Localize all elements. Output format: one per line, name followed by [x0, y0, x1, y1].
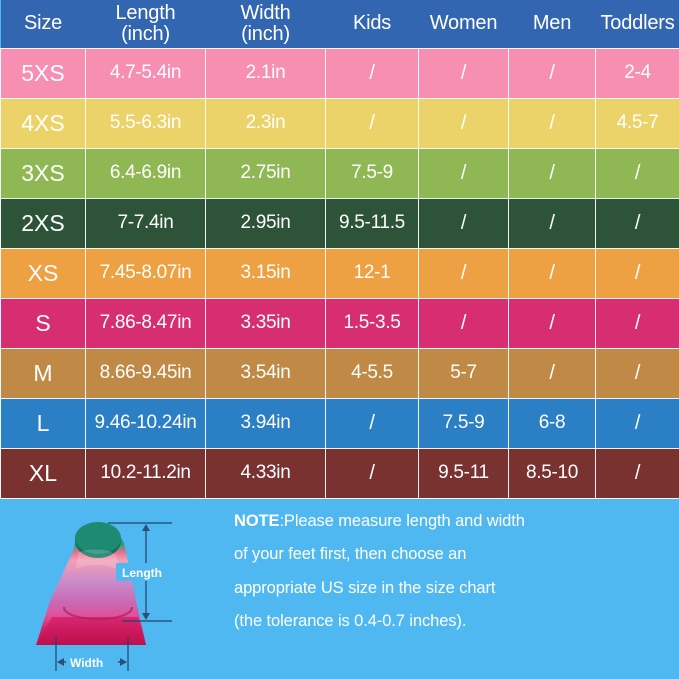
cell-women: / — [419, 148, 509, 198]
cell-width: 3.54in — [206, 348, 326, 398]
column-header-label: Size — [24, 12, 62, 34]
cell-toddlers: / — [596, 448, 679, 498]
cell-toddlers: / — [596, 248, 679, 298]
cell-width: 2.1in — [206, 48, 326, 98]
cell-length: 9.46-10.24in — [86, 398, 206, 448]
cell-length: 7.45-8.07in — [86, 248, 206, 298]
cell-kids: 1.5-3.5 — [326, 298, 419, 348]
cell-women: 7.5-9 — [419, 398, 509, 448]
cell-width: 2.75in — [206, 148, 326, 198]
table-row: M8.66-9.45in3.54in4-5.55-7// — [1, 348, 679, 398]
cell-kids: / — [326, 98, 419, 148]
table-body: 5XS4.7-5.4in2.1in///2-44XS5.5-6.3in2.3in… — [1, 48, 679, 498]
column-header-label: Length — [116, 2, 176, 24]
cell-toddlers: 2-4 — [596, 48, 679, 98]
length-arrow-down — [142, 613, 150, 620]
cell-kids: 7.5-9 — [326, 148, 419, 198]
cell-length: 6.4-6.9in — [86, 148, 206, 198]
cell-length: 5.5-6.3in — [86, 98, 206, 148]
cell-kids: / — [326, 398, 419, 448]
cell-kids: 9.5-11.5 — [326, 198, 419, 248]
cell-size: S — [1, 298, 86, 348]
note-line: appropriate US size in the size chart — [234, 580, 665, 597]
cell-toddlers: 4.5-7 — [596, 98, 679, 148]
table-row: 5XS4.7-5.4in2.1in///2-4 — [1, 48, 679, 98]
note-panel: Length Width NOTE:Please measure length … — [0, 499, 679, 675]
cell-men: / — [509, 198, 596, 248]
width-arrow-right — [120, 658, 127, 666]
cell-women: / — [419, 198, 509, 248]
column-header-kids: Kids — [326, 0, 419, 48]
cell-size: 3XS — [1, 148, 86, 198]
cell-width: 3.15in — [206, 248, 326, 298]
size-chart-table: SizeLength(inch)Width(inch)KidsWomenMenT… — [0, 0, 679, 499]
cell-women: / — [419, 48, 509, 98]
table-row: L9.46-10.24in3.94in/7.5-96-8/ — [1, 398, 679, 448]
column-header-length: Length(inch) — [86, 0, 206, 48]
table-row: 4XS5.5-6.3in2.3in///4.5-7 — [1, 98, 679, 148]
cell-kids: 4-5.5 — [326, 348, 419, 398]
cell-width: 4.33in — [206, 448, 326, 498]
note-text-block: NOTE:Please measure length and widthof y… — [218, 499, 679, 675]
note-line: of your feet first, then choose an — [234, 546, 665, 563]
cell-length: 7-7.4in — [86, 198, 206, 248]
cell-women: 5-7 — [419, 348, 509, 398]
cell-men: / — [509, 98, 596, 148]
cell-size: XS — [1, 248, 86, 298]
column-header-unit: (inch) — [87, 24, 205, 45]
column-header-label: Width — [240, 2, 290, 24]
cell-men: / — [509, 298, 596, 348]
size-chart-root: SizeLength(inch)Width(inch)KidsWomenMenT… — [0, 0, 679, 679]
width-dimension-label: Width — [70, 656, 103, 670]
cell-width: 3.94in — [206, 398, 326, 448]
cell-toddlers: / — [596, 198, 679, 248]
column-header-men: Men — [509, 0, 596, 48]
cell-toddlers: / — [596, 298, 679, 348]
cell-size: 5XS — [1, 48, 86, 98]
cell-length: 8.66-9.45in — [86, 348, 206, 398]
width-arrow-left — [57, 658, 64, 666]
length-arrow-up — [142, 524, 150, 531]
table-row: XS7.45-8.07in3.15in12-1/// — [1, 248, 679, 298]
cell-men: 8.5-10 — [509, 448, 596, 498]
column-header-label: Women — [430, 12, 498, 34]
cell-women: / — [419, 98, 509, 148]
cell-men: / — [509, 148, 596, 198]
cell-width: 3.35in — [206, 298, 326, 348]
cell-men: / — [509, 348, 596, 398]
swim-fin-illustration: Length Width — [12, 505, 212, 673]
cell-size: M — [1, 348, 86, 398]
column-header-women: Women — [419, 0, 509, 48]
cell-width: 2.95in — [206, 198, 326, 248]
cell-size: 2XS — [1, 198, 86, 248]
cell-kids: / — [326, 448, 419, 498]
cell-size: 4XS — [1, 98, 86, 148]
length-dimension-label: Length — [122, 566, 162, 580]
table-row: S7.86-8.47in3.35in1.5-3.5/// — [1, 298, 679, 348]
column-header-width: Width(inch) — [206, 0, 326, 48]
cell-size: L — [1, 398, 86, 448]
cell-men: / — [509, 48, 596, 98]
table-header: SizeLength(inch)Width(inch)KidsWomenMenT… — [1, 0, 679, 48]
cell-toddlers: / — [596, 348, 679, 398]
table-header-row: SizeLength(inch)Width(inch)KidsWomenMenT… — [1, 0, 679, 48]
cell-length: 7.86-8.47in — [86, 298, 206, 348]
cell-kids: 12-1 — [326, 248, 419, 298]
column-header-toddlers: Toddlers — [596, 0, 679, 48]
column-header-label: Men — [533, 12, 571, 34]
cell-width: 2.3in — [206, 98, 326, 148]
note-label: NOTE — [234, 512, 279, 530]
cell-women: 9.5-11 — [419, 448, 509, 498]
cell-women: / — [419, 298, 509, 348]
cell-length: 4.7-5.4in — [86, 48, 206, 98]
cell-length: 10.2-11.2in — [86, 448, 206, 498]
fin-foot-opening-inner — [75, 522, 121, 554]
cell-kids: / — [326, 48, 419, 98]
cell-size: XL — [1, 448, 86, 498]
note-line: (the tolerance is 0.4-0.7 inches). — [234, 613, 665, 630]
column-header-label: Kids — [353, 12, 391, 34]
cell-toddlers: / — [596, 148, 679, 198]
table-row: 2XS7-7.4in2.95in9.5-11.5/// — [1, 198, 679, 248]
cell-women: / — [419, 248, 509, 298]
column-header-label: Toddlers — [601, 12, 675, 34]
cell-toddlers: / — [596, 398, 679, 448]
cell-men: / — [509, 248, 596, 298]
note-line-text: :Please measure length and width — [279, 512, 524, 530]
table-row: XL10.2-11.2in4.33in/9.5-118.5-10/ — [1, 448, 679, 498]
table-row: 3XS6.4-6.9in2.75in7.5-9/// — [1, 148, 679, 198]
note-line: NOTE:Please measure length and width — [234, 513, 665, 530]
cell-men: 6-8 — [509, 398, 596, 448]
fin-illustration-area: Length Width — [0, 499, 218, 675]
column-header-size: Size — [1, 0, 86, 48]
column-header-unit: (inch) — [207, 24, 325, 45]
